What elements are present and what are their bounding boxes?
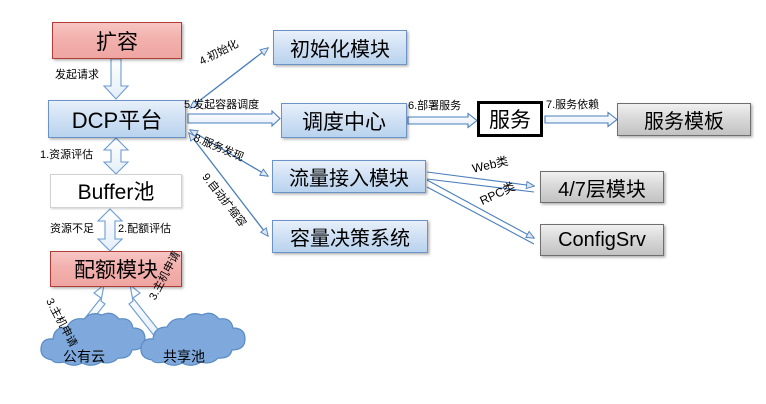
connector-scheduler-to-service xyxy=(408,114,477,128)
connector-expand-to-dcp xyxy=(104,59,128,99)
node-public-cloud[interactable]: 公有云 xyxy=(28,332,140,382)
node-label: 扩容 xyxy=(96,26,138,56)
edge-label-step2-quota-evaluation: 2.配额评估 xyxy=(118,224,171,235)
node-label: 配额模块 xyxy=(74,254,158,284)
diagram-canvas: 扩容 DCP平台 Buffer池 配额模块 初始化模块 调度中心 流量接入模块 … xyxy=(0,0,766,404)
cloud-label: 公有云 xyxy=(28,347,140,367)
node-scheduling-center[interactable]: 调度中心 xyxy=(281,103,407,138)
node-label: DCP平台 xyxy=(72,103,162,135)
node-label: 4/7层模块 xyxy=(558,173,646,202)
node-label: 调度中心 xyxy=(302,106,386,136)
node-label: 服务 xyxy=(489,104,531,134)
node-capacity-decision-system[interactable]: 容量决策系统 xyxy=(272,220,428,253)
edge-label-step6-deploy-service: 6.部署服务 xyxy=(408,101,461,112)
node-dcp-platform[interactable]: DCP平台 xyxy=(48,100,186,138)
edge-label-step1-resource-evaluation: 1.资源评估 xyxy=(40,150,93,161)
node-shared-pool[interactable]: 共享池 xyxy=(128,332,240,382)
edge-label-step5-start-container-scheduling: 5.发起容器调度 xyxy=(184,100,259,111)
edge-label-insufficient-resources: 资源不足 xyxy=(50,224,94,235)
connector-service-to-template xyxy=(545,113,617,127)
edge-label-step7-service-dependency: 7.服务依赖 xyxy=(546,100,599,111)
node-traffic-access-module[interactable]: 流量接入模块 xyxy=(272,160,426,193)
node-buffer-pool[interactable]: Buffer池 xyxy=(50,174,182,208)
node-service[interactable]: 服务 xyxy=(477,101,543,137)
edge-label-initiate-request: 发起请求 xyxy=(55,70,99,81)
node-label: 服务模板 xyxy=(644,105,724,134)
node-expand[interactable]: 扩容 xyxy=(52,22,182,59)
connector-dcp-to-scheduler xyxy=(188,111,280,126)
cloud-label: 共享池 xyxy=(128,347,240,367)
connector-dcp-to-buffer xyxy=(104,138,128,174)
node-label: 初始化模块 xyxy=(290,33,390,62)
node-label: ConfigSrv xyxy=(558,229,646,252)
node-label: 容量决策系统 xyxy=(290,222,410,251)
node-service-template[interactable]: 服务模板 xyxy=(617,103,751,136)
node-configsrv[interactable]: ConfigSrv xyxy=(540,224,664,256)
node-init-module[interactable]: 初始化模块 xyxy=(273,30,407,65)
node-label: 流量接入模块 xyxy=(289,162,409,191)
node-label: Buffer池 xyxy=(78,176,155,206)
node-l47-module[interactable]: 4/7层模块 xyxy=(540,171,664,203)
